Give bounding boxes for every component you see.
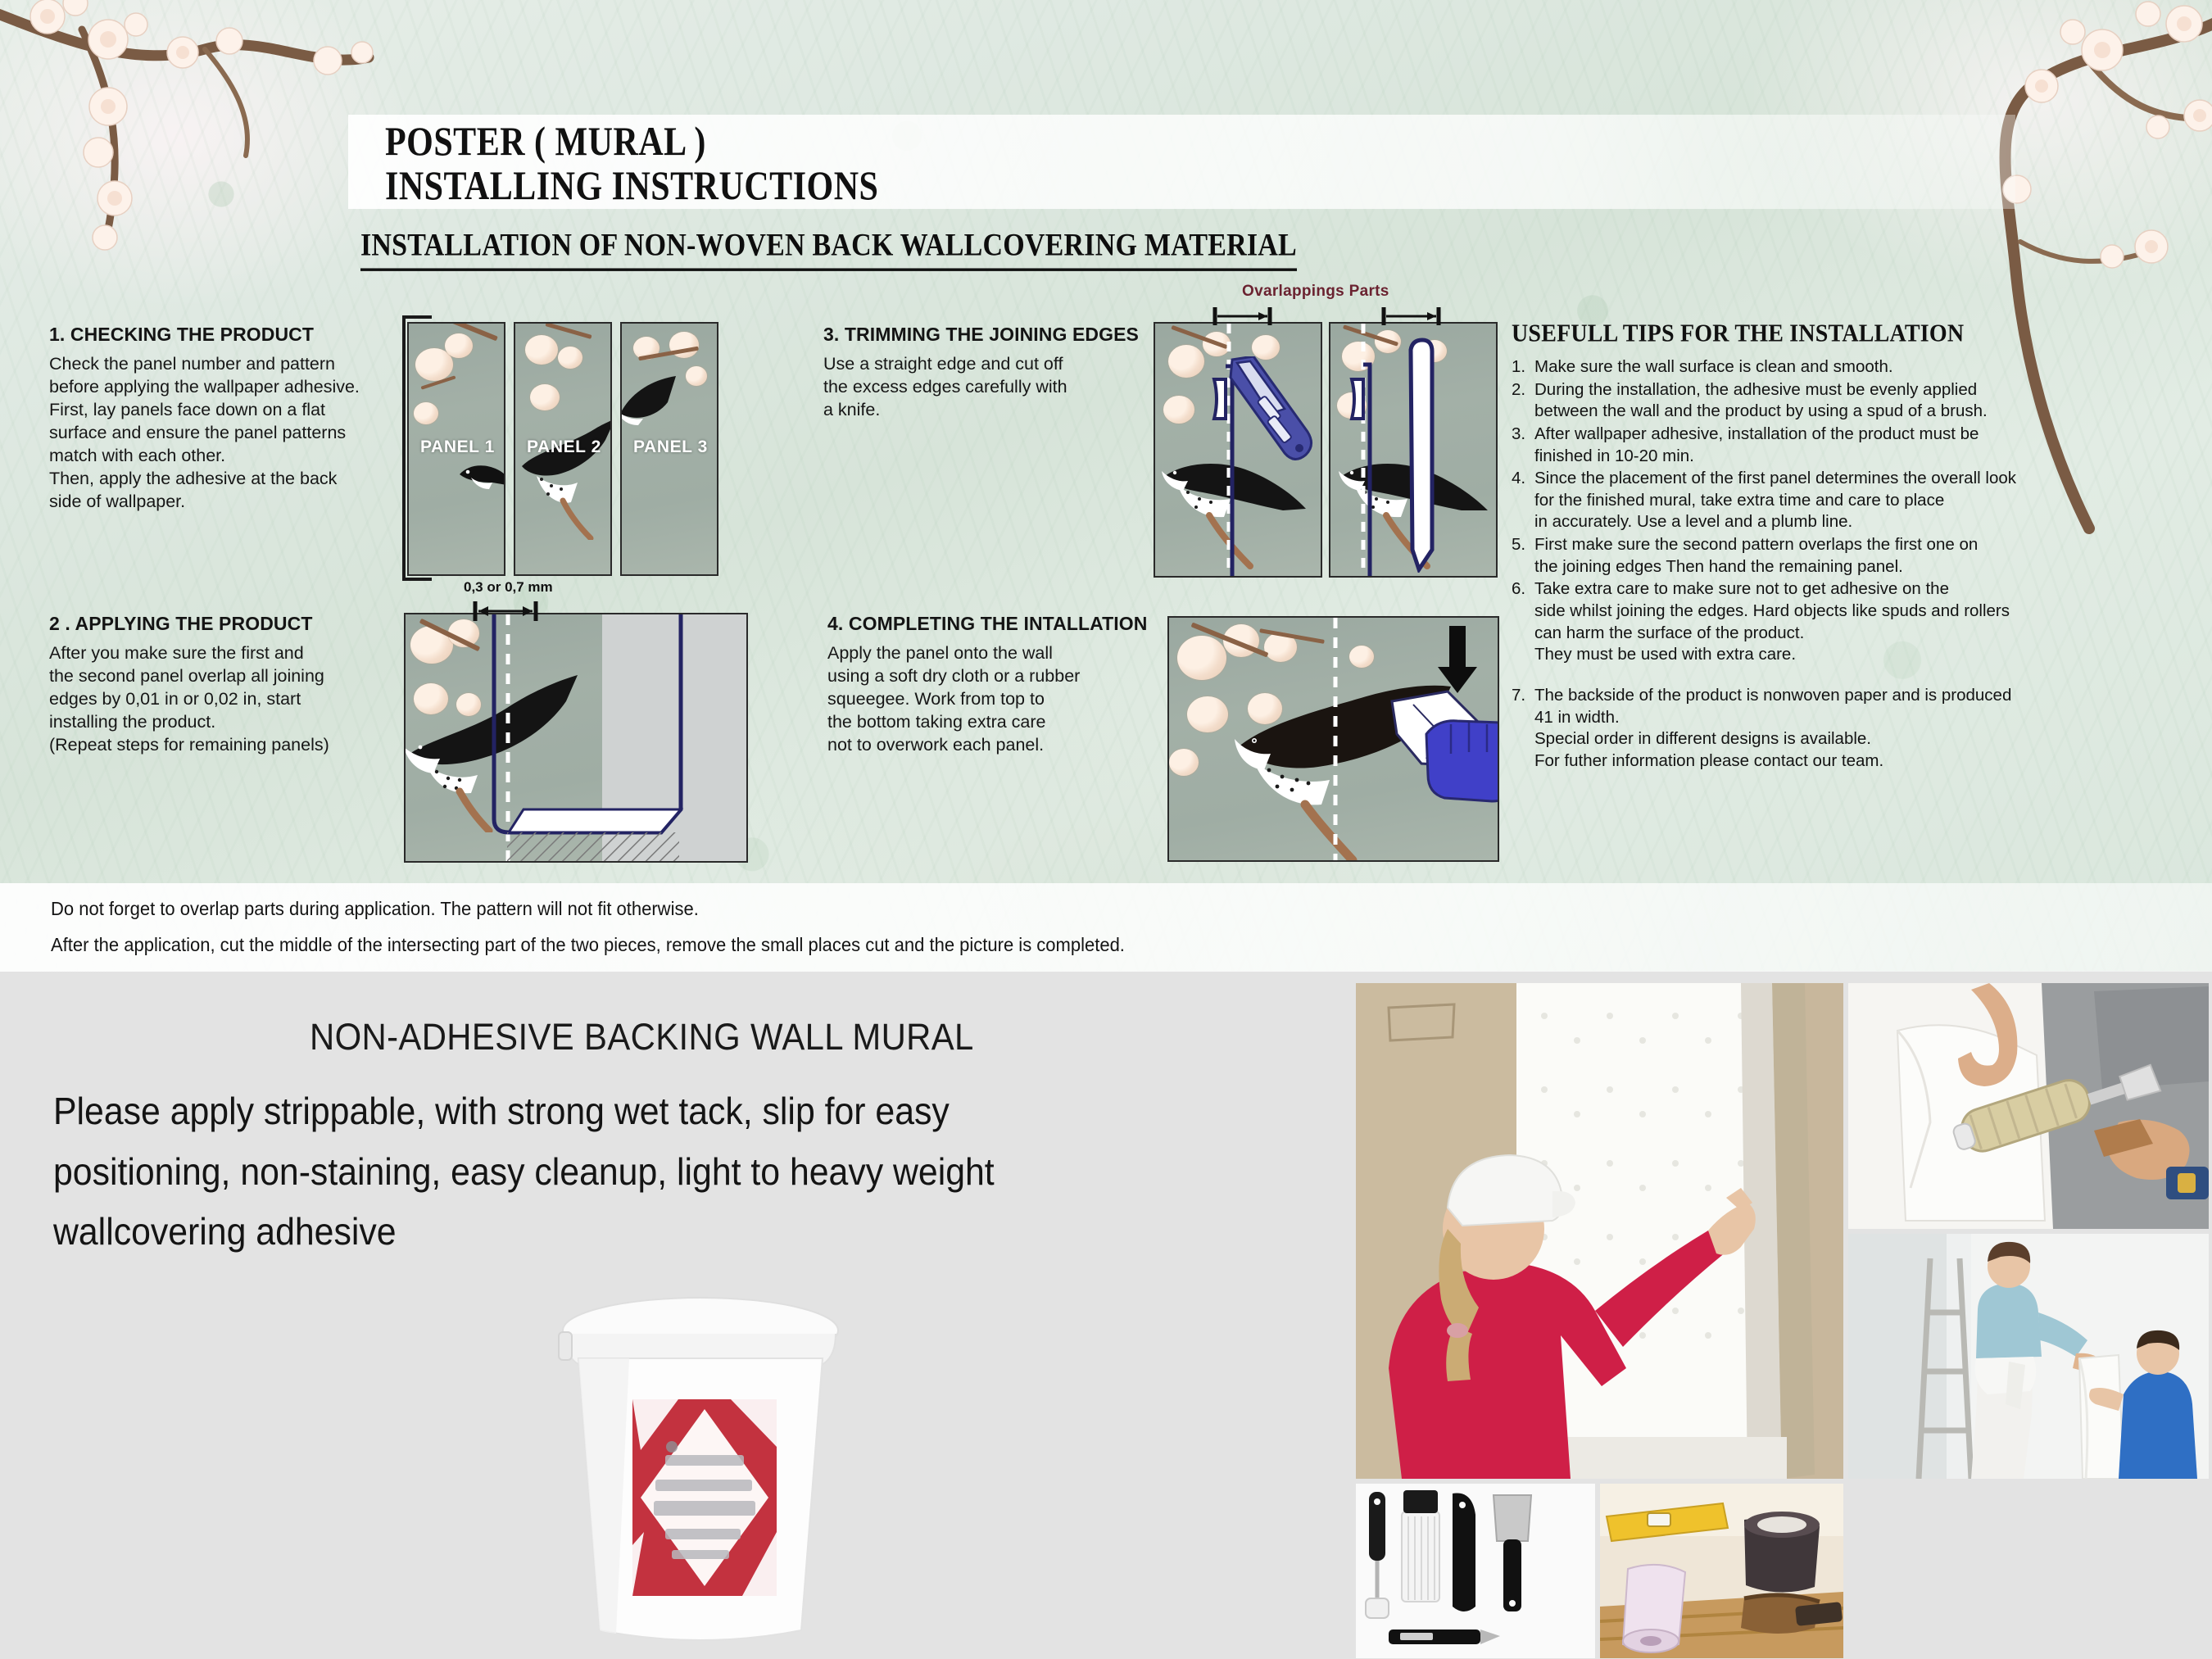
step-2-line-4: installing the product. — [49, 711, 418, 734]
tip-7-number: 7. — [1512, 685, 1534, 773]
tip-4-text: Since the placement of the first panel d… — [1534, 468, 2016, 533]
step-1-line-3: First, lay panels face down on a flat — [49, 399, 418, 422]
step-4-line-4: the bottom taking extra care — [827, 711, 1172, 734]
panel-label-1: PANEL 1 — [420, 437, 495, 457]
photo-woman-hanging-lining-paper — [1356, 983, 1843, 1479]
tip-5-number: 5. — [1512, 534, 1534, 578]
collage-right-column — [1848, 983, 2209, 1479]
title-line-2: INSTALLING INSTRUCTIONS — [385, 161, 878, 213]
tip-2-number: 2. — [1512, 379, 1534, 423]
tip-item-3: 3. After wallpaper adhesive, installatio… — [1512, 424, 2167, 467]
tip-1-text: Make sure the wall surface is clean and … — [1534, 356, 1893, 378]
tip-6-number: 6. — [1512, 578, 1534, 666]
step-2-line-2: the second panel overlap all joining — [49, 665, 418, 688]
step-1-body: Check the panel number and pattern befor… — [49, 353, 418, 514]
tip-item-7: 7. The backside of the product is nonwov… — [1512, 685, 2167, 773]
step-1-block: 1. CHECKING THE PRODUCT Check the panel … — [49, 324, 418, 514]
blurb-line-3: wallcovering adhesive — [53, 1202, 1242, 1262]
step-2-title: 2 . APPLYING THE PRODUCT — [49, 613, 418, 635]
overlap-arrow-left-icon — [1213, 306, 1273, 330]
blurb-line-2: positioning, non-staining, easy cleanup,… — [53, 1142, 1242, 1203]
step-4-line-3: squeegee. Work from top to — [827, 688, 1172, 711]
tip-4-number: 4. — [1512, 468, 1534, 533]
photo-wallpaper-tool-kit — [1356, 1484, 1595, 1658]
step-4-block: 4. COMPLETING THE INTALLATION Apply the … — [827, 613, 1172, 757]
step-1-title: 1. CHECKING THE PRODUCT — [49, 324, 418, 346]
overlap-arrow-right-icon — [1381, 306, 1442, 330]
tip-2-text: During the installation, the adhesive mu… — [1534, 379, 1988, 423]
step-4-line-2: using a soft dry cloth or a rubber — [827, 665, 1172, 688]
figure-overlap-detail — [404, 613, 748, 863]
trimming-knife-figure — [1154, 322, 1322, 578]
overlap-parts-label: Ovarlappings Parts — [1242, 283, 1389, 301]
figure-trimming — [1154, 322, 1498, 578]
step-1-line-1: Check the panel number and pattern — [49, 353, 418, 376]
tip-1-number: 1. — [1512, 356, 1534, 378]
poster-subtitle: INSTALLATION OF NON-WOVEN BACK WALLCOVER… — [360, 228, 1297, 271]
step-2-line-3: edges by 0,01 in or 0,02 in, start — [49, 688, 418, 711]
dimension-label: 0,3 or 0,7 mm — [464, 579, 553, 596]
step-3-body: Use a straight edge and cut off the exce… — [823, 353, 1151, 422]
dimension-arrow-icon — [472, 600, 539, 627]
panel-label-3: PANEL 3 — [633, 437, 708, 457]
poster-title: POSTER ( MURAL ) INSTALLING INSTRUCTIONS — [385, 117, 878, 206]
blurb-line-1: Please apply strippable, with strong wet… — [53, 1081, 1242, 1142]
step-3-title: 3. TRIMMING THE JOINING EDGES — [823, 324, 1151, 346]
footer-note-1: Do not forget to overlap parts during ap… — [51, 898, 699, 920]
product-description: Please apply strippable, with strong wet… — [53, 1081, 1242, 1262]
step-3-line-1: Use a straight edge and cut off — [823, 353, 1151, 376]
tip-item-4: 4. Since the placement of the first pane… — [1512, 468, 2167, 533]
step-3-line-2: the excess edges carefully with — [823, 376, 1151, 399]
tip-item-1: 1. Make sure the wall surface is clean a… — [1512, 356, 2167, 378]
poster-page: POSTER ( MURAL ) INSTALLING INSTRUCTIONS… — [0, 0, 2212, 1659]
squeegee-figure-box — [1167, 616, 1499, 862]
photo-two-people-hanging-wallpaper — [1848, 1234, 2209, 1479]
step-1-line-7: side of wallpaper. — [49, 491, 418, 514]
step-3-block: 3. TRIMMING THE JOINING EDGES Use a stra… — [823, 324, 1151, 422]
tip-6-text: Take extra care to make sure not to get … — [1534, 578, 2010, 666]
figure-squeegee — [1167, 616, 1499, 862]
step-2-line-5: (Repeat steps for remaining panels) — [49, 734, 418, 757]
overlap-detail-box — [404, 613, 748, 863]
tip-item-5: 5. First make sure the second pattern ov… — [1512, 534, 2167, 578]
step-4-body: Apply the panel onto the wall using a so… — [827, 642, 1172, 757]
product-headline: NON-ADHESIVE BACKING WALL MURAL — [310, 1016, 974, 1058]
step-1-line-5: match with each other. — [49, 445, 418, 468]
step-2-line-1: After you make sure the first and — [49, 642, 418, 665]
tip-item-6: 6. Take extra care to make sure not to g… — [1512, 578, 2167, 666]
step-1-line-4: surface and ensure the panel patterns — [49, 422, 418, 445]
tip-7-text: The backside of the product is nonwoven … — [1534, 685, 2011, 773]
adhesive-bucket — [541, 1286, 860, 1647]
collage-bottom-row — [1356, 1484, 1843, 1658]
tips-heading: USEFULL TIPS FOR THE INSTALLATION — [1512, 320, 2167, 348]
figure-three-panels: PANEL 1 PANEL 2 PANEL 3 — [407, 322, 743, 576]
step-3-line-3: a knife. — [823, 399, 1151, 422]
step-1-line-6: Then, apply the adhesive at the back — [49, 468, 418, 491]
tip-item-2: 2. During the installation, the adhesive… — [1512, 379, 2167, 423]
tip-3-number: 3. — [1512, 424, 1534, 467]
step-4-line-5: not to overwork each panel. — [827, 734, 1172, 757]
instruction-poster: POSTER ( MURAL ) INSTALLING INSTRUCTIONS… — [0, 0, 2212, 971]
step-1-line-2: before applying the wallpaper adhesive. — [49, 376, 418, 399]
footer-note-2: After the application, cut the middle of… — [51, 934, 1125, 956]
photo-roller-pasting-wallpaper — [1848, 983, 2209, 1229]
tip-5-text: First make sure the second pattern overl… — [1534, 534, 1978, 578]
panel-label-2: PANEL 2 — [527, 437, 601, 457]
footer-notes: Do not forget to overlap parts during ap… — [0, 883, 2212, 972]
step-4-title: 4. COMPLETING THE INTALLATION — [827, 613, 1172, 635]
useful-tips-section: USEFULL TIPS FOR THE INSTALLATION 1. Mak… — [1512, 320, 2167, 773]
tips-spacer — [1512, 667, 2167, 685]
step-4-line-1: Apply the panel onto the wall — [827, 642, 1172, 665]
tip-3-text: After wallpaper adhesive, installation o… — [1534, 424, 1979, 467]
photo-brushes-and-roll — [1600, 1484, 1843, 1658]
step-2-body: After you make sure the first and the se… — [49, 642, 418, 757]
trimming-straightedge-figure — [1329, 322, 1498, 578]
step-2-block: 2 . APPLYING THE PRODUCT After you make … — [49, 613, 418, 757]
photo-collage — [1356, 983, 2204, 1653]
